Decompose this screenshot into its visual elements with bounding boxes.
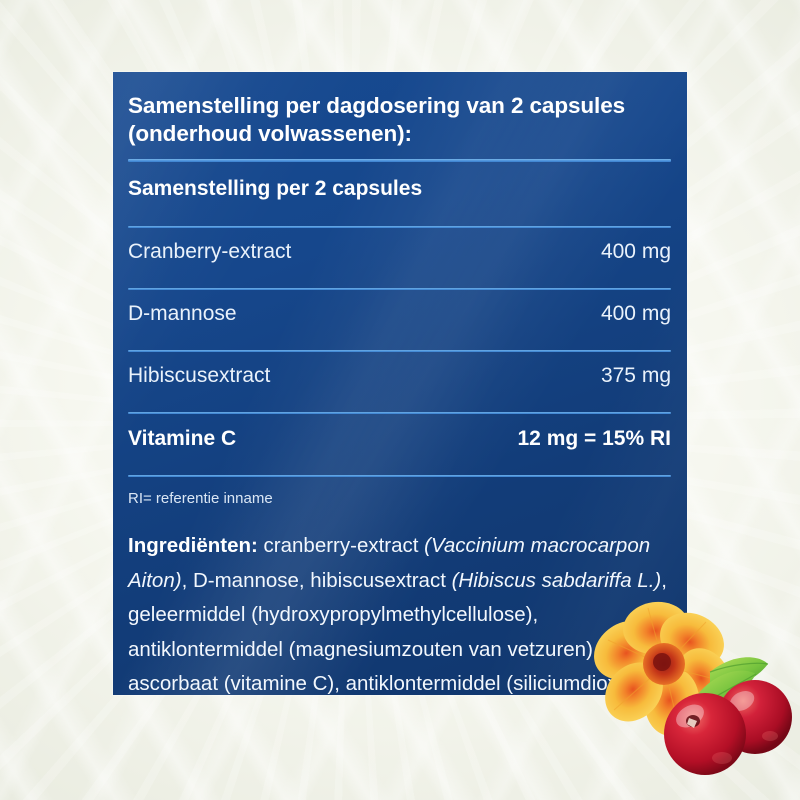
table-row: D-mannose 400 mg [128,290,671,339]
nutrient-name: D-mannose [128,301,237,327]
panel-title: Samenstelling per dagdosering van 2 caps… [128,88,671,148]
nutrient-value: 400 mg [601,239,671,265]
ingredients-latin-2: (Hibiscus sabdariffa L.) [452,569,662,592]
label-image-canvas: Samenstelling per dagdosering van 2 caps… [0,0,800,800]
nutrition-panel: Samenstelling per dagdosering van 2 caps… [113,72,687,695]
nutrient-value: 375 mg [601,363,671,389]
table-row: Hibiscusextract 375 mg [128,352,671,401]
nutrient-value: 400 mg [601,301,671,327]
table-row: Cranberry-extract 400 mg [128,228,671,277]
nutrient-value: 12 mg = 15% RI [518,426,672,452]
ri-footnote: RI= referentie inname [128,477,671,509]
ingredients-label: Ingrediënten: [128,534,258,557]
ingredients-text-1: cranberry-extract [258,534,424,557]
cranberry-berry-icon [718,680,792,754]
table-row: Vitamine C 12 mg = 15% RI [128,414,671,464]
nutrient-name: Hibiscusextract [128,363,270,389]
cranberry-berry-icon [664,693,746,775]
nutrient-name: Cranberry-extract [128,239,291,265]
table-header-label: Samenstelling per 2 capsules [128,162,671,215]
ingredients-paragraph: Ingrediënten: cranberry-extract (Vaccini… [128,509,673,695]
ingredients-text-2: , D-mannose, hibiscusextract [182,569,452,592]
nutrient-name: Vitamine C [128,426,236,452]
green-leaf-icon [696,657,768,708]
